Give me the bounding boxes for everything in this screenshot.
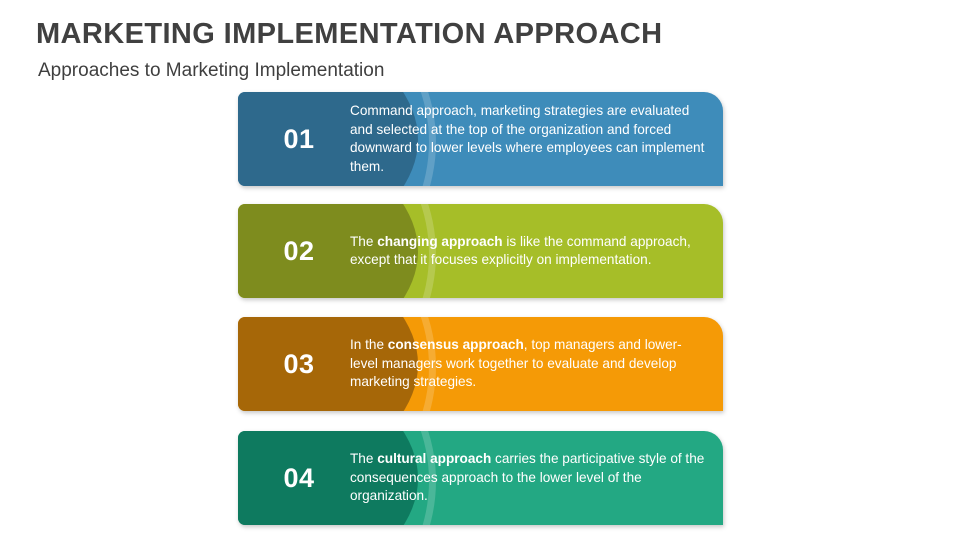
- bar-number-label: 03: [256, 317, 342, 411]
- bar-description-rich-3: In the consensus approach, top managers …: [350, 336, 709, 392]
- bar-description: The cultural approach carries the partic…: [350, 431, 709, 525]
- list-item[interactable]: 01 Command approach, marketing strategie…: [238, 92, 723, 186]
- bar-description: In the consensus approach, top managers …: [350, 317, 709, 411]
- list-item[interactable]: 03 In the consensus approach, top manage…: [238, 317, 723, 411]
- bar-description-rich-1: Command approach, marketing strategies a…: [350, 102, 709, 176]
- list-item[interactable]: 04 The cultural approach carries the par…: [238, 431, 723, 525]
- bar-description-rich-4: The cultural approach carries the partic…: [350, 450, 709, 506]
- bar-number-label: 04: [256, 431, 342, 525]
- approach-list: 01 Command approach, marketing strategie…: [0, 0, 960, 540]
- list-item[interactable]: 02 The changing approach is like the com…: [238, 204, 723, 298]
- bar-description: The changing approach is like the comman…: [350, 204, 709, 298]
- bar-description-rich-2: The changing approach is like the comman…: [350, 233, 709, 270]
- bar-number-label: 02: [256, 204, 342, 298]
- bar-number-label: 01: [256, 92, 342, 186]
- bar-description: Command approach, marketing strategies a…: [350, 92, 709, 186]
